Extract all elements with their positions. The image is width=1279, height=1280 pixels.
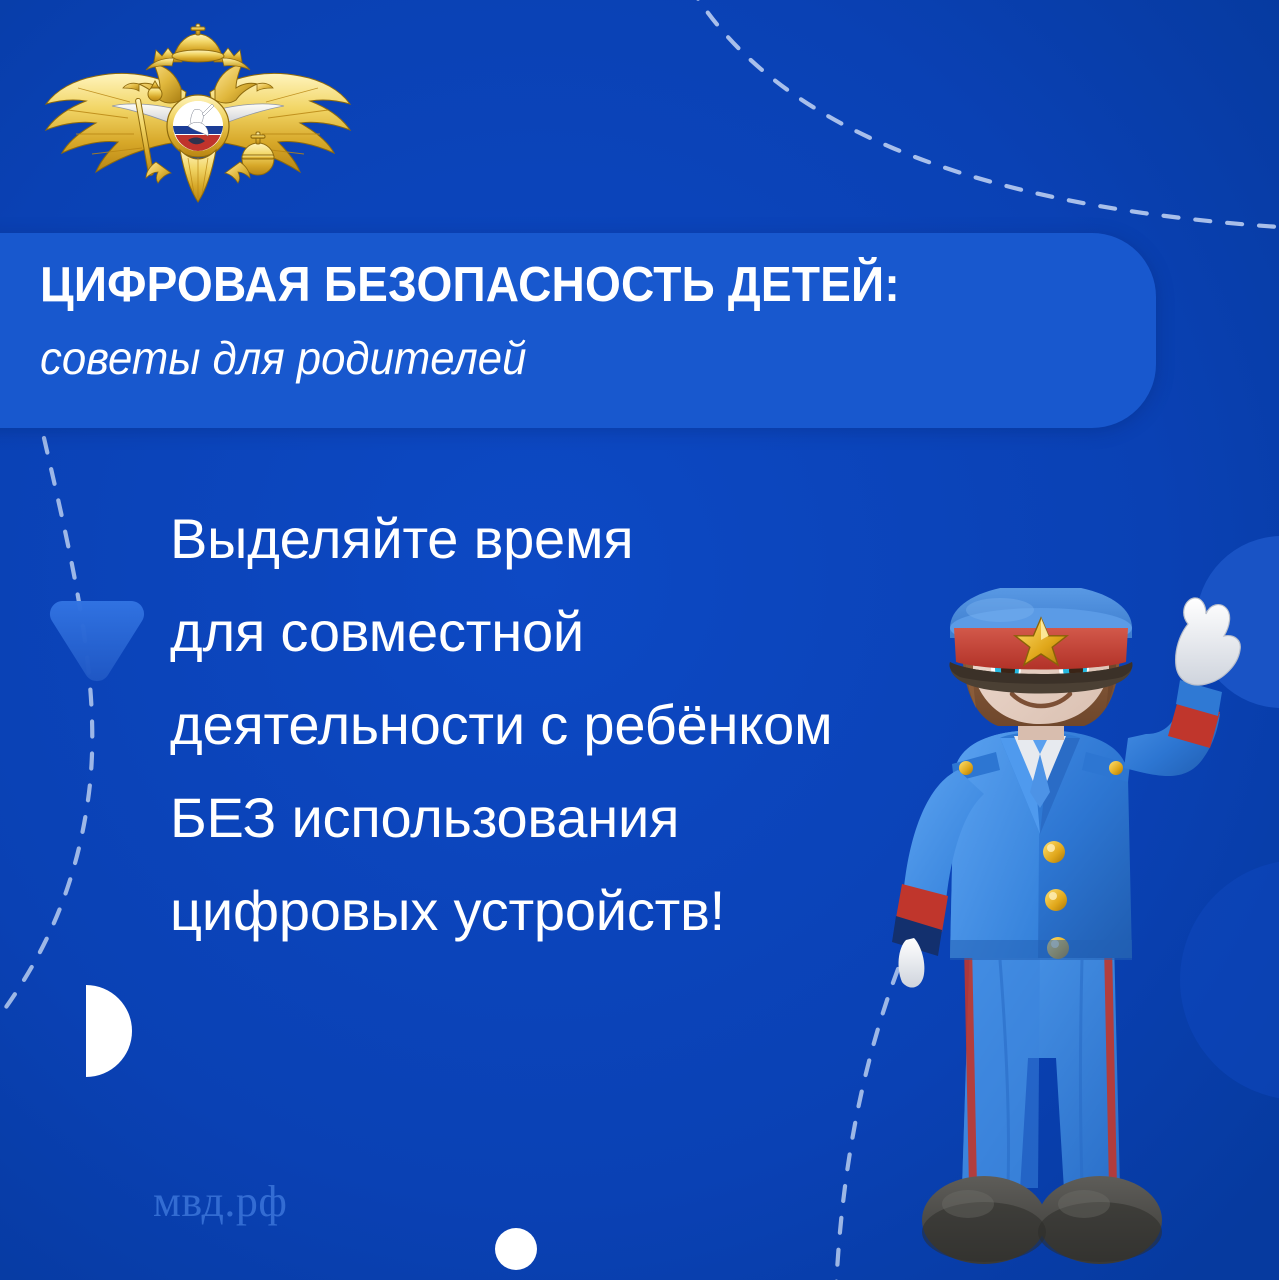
message-line-1: Выделяйте время bbox=[170, 492, 1010, 585]
page-title: ЦИФРОВАЯ БЕЗОПАСНОСТЬ ДЕТЕЙ: bbox=[40, 261, 900, 310]
page-subtitle: советы для родителей bbox=[40, 335, 526, 381]
title-banner: ЦИФРОВАЯ БЕЗОПАСНОСТЬ ДЕТЕЙ: советы для … bbox=[0, 233, 1156, 428]
mascot-right-arm bbox=[1124, 598, 1240, 776]
half-circle-white bbox=[86, 985, 132, 1077]
dashed-curve-left bbox=[4, 438, 92, 1010]
message-line-2: для совместной bbox=[170, 585, 1010, 678]
message-line-3: деятельности с ребёнком bbox=[170, 678, 1010, 771]
triangle-down-icon bbox=[50, 601, 144, 681]
police-officer-mascot bbox=[888, 588, 1279, 1280]
poster-root: ЦИФРОВАЯ БЕЗОПАСНОСТЬ ДЕТЕЙ: советы для … bbox=[0, 0, 1279, 1280]
dashed-curve-top-right bbox=[690, 0, 1279, 228]
mascot-coat bbox=[950, 730, 1132, 960]
message-line-5: цифровых устройств! bbox=[170, 864, 1010, 957]
mascot-waving-hand bbox=[1176, 598, 1241, 685]
mvd-eagle-emblem bbox=[38, 22, 358, 207]
dot-white bbox=[495, 1228, 537, 1270]
mascot-pants bbox=[962, 940, 1120, 1190]
watermark-mvd-rf: мвд.рф bbox=[153, 1176, 287, 1227]
message-line-4: БЕЗ использования bbox=[170, 771, 1010, 864]
mascot-cap bbox=[949, 588, 1132, 694]
main-message: Выделяйте время для совместной деятельно… bbox=[170, 492, 1010, 957]
mascot-boots bbox=[922, 1176, 1162, 1264]
